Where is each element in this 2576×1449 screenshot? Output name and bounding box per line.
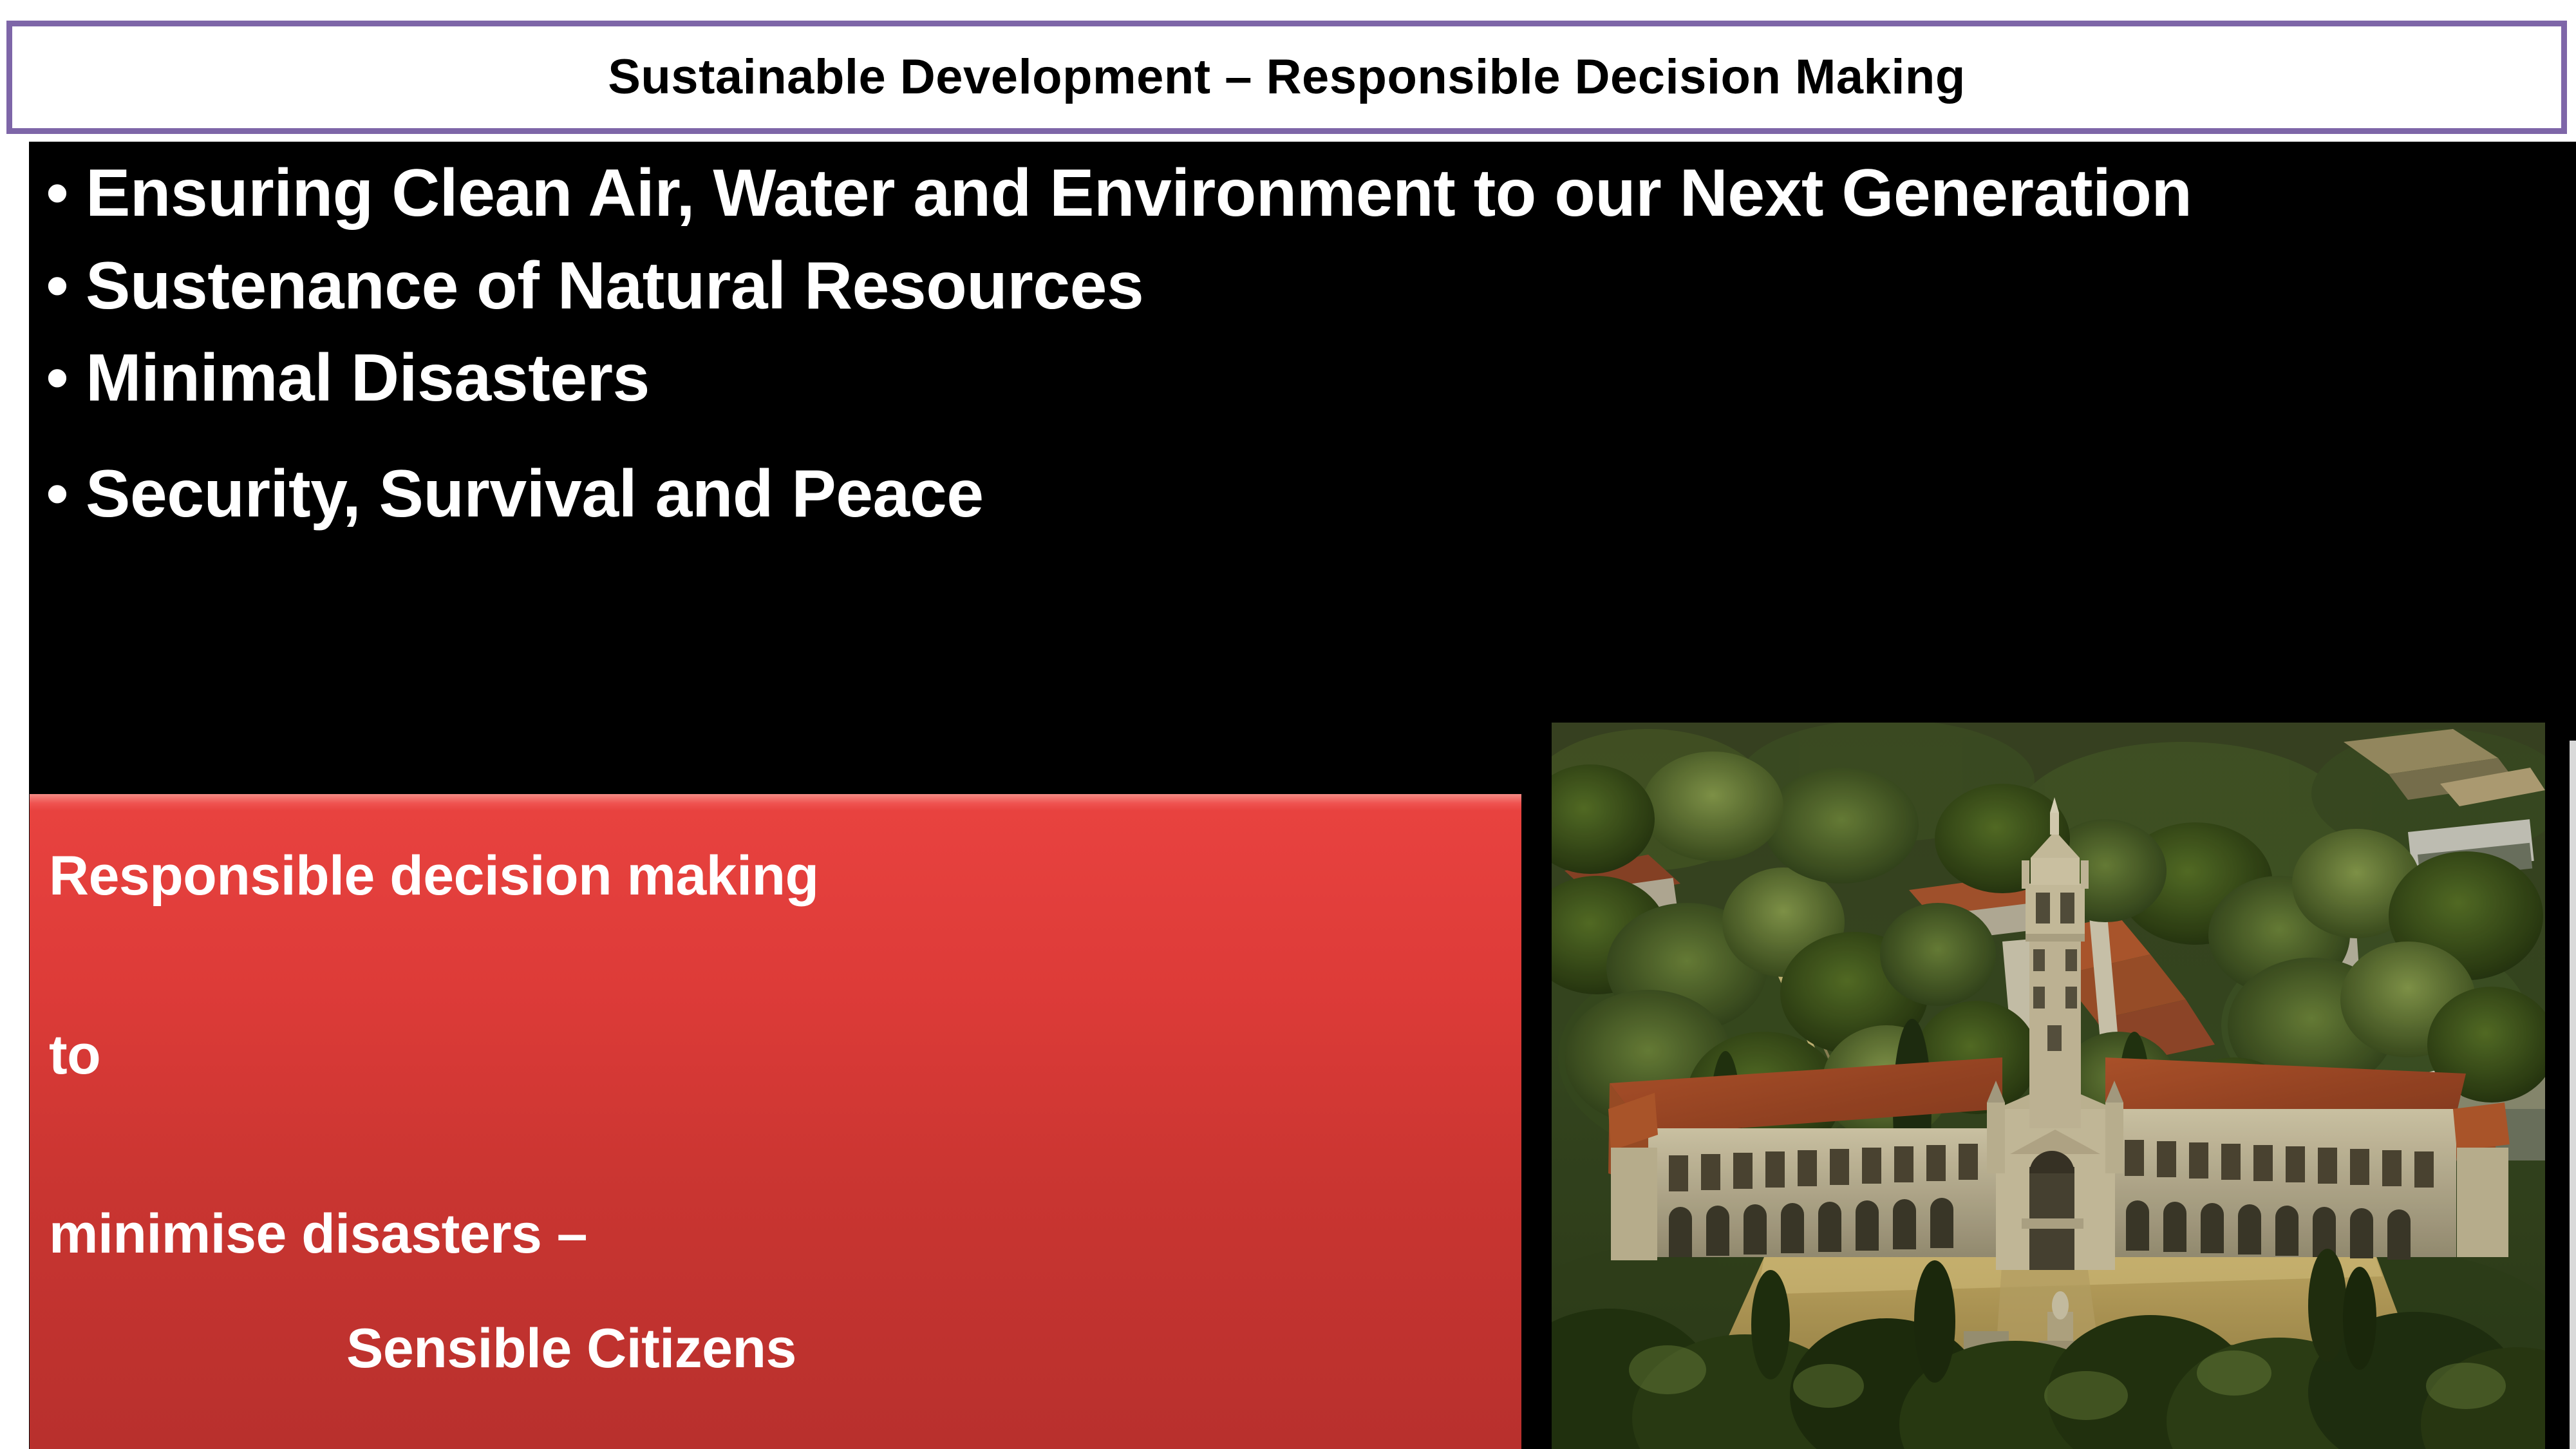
bullet-dot-icon: • [29,457,86,531]
slide-title-box: Sustainable Development – Responsible De… [6,21,2567,134]
bullet-dot-icon: • [29,156,86,231]
list-item-label: Sustenance of Natural Resources [86,249,2508,323]
callout-box: Responsible decision making to minimise … [30,794,1521,1449]
callout-line-4: Sensible Citizens [346,1321,796,1376]
bullet-list: • Ensuring Clean Air, Water and Environm… [29,147,2508,532]
bullet-dot-icon: • [29,341,86,415]
right-edge-strip [2570,741,2576,1449]
campus-aerial-photo [1552,723,2545,1449]
list-item-label: Minimal Disasters [86,341,2508,415]
list-item: • Sustenance of Natural Resources [29,249,2508,323]
callout-line-2: to [49,1027,100,1083]
list-item-label: Security, Survival and Peace [86,457,2508,531]
bullet-dot-icon: • [29,249,86,323]
list-item: • Minimal Disasters [29,341,2508,415]
list-item: • Security, Survival and Peace [29,457,2508,531]
callout-line-3: minimise disasters – [49,1206,587,1262]
list-item-label: Ensuring Clean Air, Water and Environmen… [86,156,2508,231]
page-title: Sustainable Development – Responsible De… [608,53,1966,102]
campus-aerial-photo-graphic [1552,723,2545,1449]
list-item: • Ensuring Clean Air, Water and Environm… [29,156,2508,231]
callout-line-1: Responsible decision making [49,848,819,904]
